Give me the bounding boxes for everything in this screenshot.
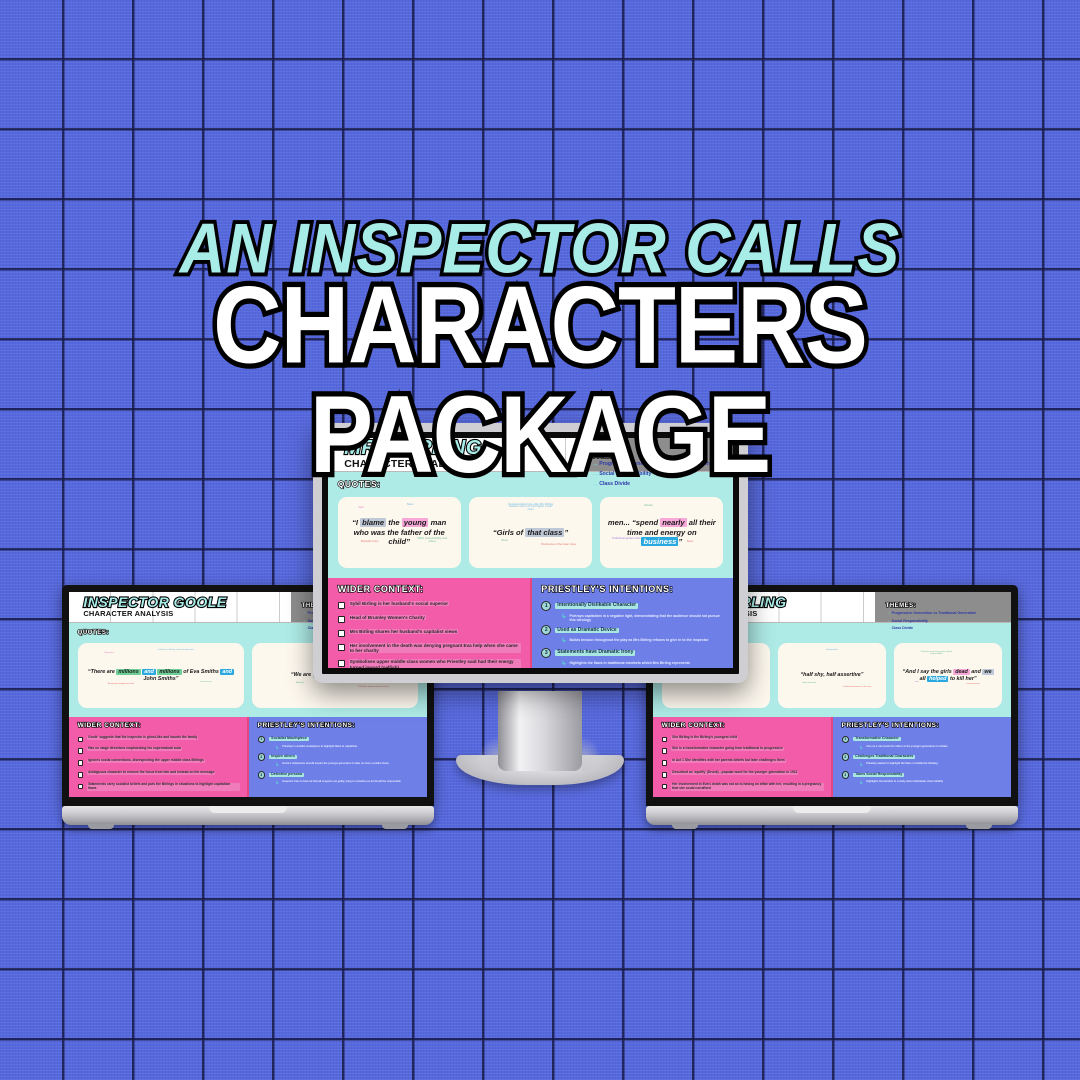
context-text: She is a transformative character going … [671,747,784,751]
intention-item: 3Takes Social Responsibility↳Highlights … [842,771,1004,786]
context-item[interactable]: Goole' suggests that the inspector is gh… [78,736,240,743]
elbow-arrow-icon: ↳ [859,763,863,768]
annotation-note: Noun [484,540,526,543]
theme-label: Social Responsibility [892,620,928,624]
intention-title: Socialist Mouthpiece [269,737,309,741]
quote-card[interactable]: RepetitionCollective suffering of the wo… [78,643,245,709]
elbow-arrow-icon: ↳ [561,614,566,620]
intention-header: 3Statements have Dramatic Irony [541,648,725,658]
intention-title: Detective persona [269,773,304,777]
elbow-arrow-icon: ↳ [859,746,863,751]
quote-fragment: ” [678,537,682,546]
context-text: Symbolises upper middle class women who … [349,659,522,668]
highlighted-phrase: millions [157,669,181,675]
checkbox-icon[interactable] [338,602,345,609]
bottom-band: WIDER CONTEXT:She Birling is the Birling… [653,717,1011,797]
intention-header: 2Inspire others [258,753,420,761]
intention-header: 1Intentionally Dislikable Character [541,601,725,611]
quote-fragment: “There are [88,669,116,675]
intention-description: Builds tension throughout the play as Mr… [569,638,708,642]
highlighted-phrase: helped [927,676,948,682]
context-item[interactable]: Sybil Birling is her husband's social su… [338,601,522,609]
quote-card-list: VerbNounShifts responsibility onto other… [338,497,724,569]
intention-item: 3Statements have Dramatic Irony↳Highligh… [541,648,725,667]
annotation-note: Condescending tone, title, Mrs Birling b… [506,504,555,512]
headline-block: AN INSPECTOR CALLS CHARACTERS PACKAGE [0,218,1080,473]
quote-fragment: John Smiths” [143,676,178,682]
intention-title: Statements have Dramatic Irony [555,650,635,656]
theme-item: →Social Responsibility [886,619,1004,624]
context-text: Head of Brumley Women's Charity [349,615,426,620]
highlighted-phrase: blame [360,518,386,527]
checkbox-icon[interactable] [662,748,668,754]
context-item[interactable]: She is a transformative character going … [662,747,824,754]
highlighted-phrase: young [402,518,429,527]
quote-fragment: all [920,676,928,682]
context-item[interactable]: In Act 1 She identifies with her parents… [662,759,824,766]
arrow-icon: → [302,619,305,624]
headline-line-2: CHARACTERS PACKAGE [0,270,1080,489]
intention-header: 3Takes Social Responsibility [842,771,1004,779]
intention-detail: ↳Priestley's socialist mouthpiece to hig… [275,746,419,751]
context-item[interactable]: She Birling is the Birling's youngest ch… [662,736,824,743]
quote-fragment: “spend [632,518,660,527]
context-text: Her involvement in the death was denying… [349,643,522,654]
intention-description: Portrays capitalism in a negative light,… [569,614,724,622]
intentions-label: PRIESTLEY'S INTENTIONS: [541,585,725,594]
themes-label: THEMES: [886,603,1004,609]
checkbox-icon[interactable] [338,660,345,667]
context-item[interactable]: Statements carry socialist beliefs and p… [78,783,240,791]
intention-detail: ↳Highlights the benefits to society when… [859,781,1003,786]
checkbox-icon[interactable] [662,737,668,743]
quote-fragment: “Girls of [493,528,526,537]
laptop-foot-left [672,824,698,829]
quote-fragment: Eva Smiths [190,669,219,675]
laptop-foot-left [88,824,114,829]
highlighted-phrase: dead [953,669,970,675]
wider-context-label: WIDER CONTEXT: [338,585,522,594]
context-text: In Act 1 She identifies with her parents… [671,759,786,763]
highlighted-phrase: business [641,537,678,546]
quote-fragment: the [386,518,402,527]
quote-card[interactable]: Condescending tone, title, Mrs Birling b… [469,497,592,569]
context-item[interactable]: Ignores social conventions, disrespectin… [78,759,240,766]
arrow-icon: → [886,619,889,624]
intention-detail: ↳Inspector tries to find out that all su… [275,781,419,786]
laptop-foot-right [966,824,992,829]
intentions-panel: PRIESTLEY'S INTENTIONS:1Transformative C… [831,717,1011,797]
intention-description: Inspector tries to find out that all sus… [282,781,401,784]
quote-fragment: of [182,669,190,675]
checkbox-icon[interactable] [338,630,345,637]
intention-header: 2Challenges Traditional Characters [842,753,1004,761]
intention-header: 3Detective persona [258,771,420,779]
elbow-arrow-icon: ↳ [275,763,279,768]
highlighted-phrase: and [220,669,234,675]
checkbox-icon[interactable] [662,772,668,778]
context-item[interactable]: Described as 'squiffy' (Drunk) - popular… [662,771,824,778]
checkbox-icon[interactable] [78,784,84,790]
annotation-note: Conflicted character at the start [841,686,874,688]
context-text: Statements carry socialist beliefs and p… [87,783,240,791]
intention-number: 3 [258,771,266,779]
context-item[interactable]: Symbolises upper middle class women who … [338,659,522,668]
intention-number: 2 [541,625,551,635]
quote-text: “And I say the girls dead and we all hel… [894,669,1003,683]
elbow-arrow-icon: ↳ [275,781,279,786]
quote-fragment: men... [608,518,632,527]
theme-label: Progressive Generation vs Traditional Ge… [892,612,977,616]
quote-fragment: “We are [291,672,313,678]
quote-card[interactable]: Collective pronoun accepts shared respon… [894,643,1003,709]
bottom-band: WIDER CONTEXT:Sybil Birling is her husba… [328,578,733,668]
highlighted-phrase: and [142,669,156,675]
context-item[interactable]: Her involvement in Eva's death was not a… [662,783,824,791]
elbow-arrow-icon: ↳ [275,746,279,751]
quote-text: “half shy, half assertive” [794,672,870,679]
annotation-note: Dismissive of the lower class [540,544,577,547]
intention-title: Transformative Character [853,737,901,741]
elbow-arrow-icon: ↳ [859,781,863,786]
arrow-icon: → [886,611,889,616]
checkbox-icon[interactable] [662,760,668,766]
intention-number: 2 [258,753,266,761]
quote-text: “There are millions and millions of Eva … [78,669,245,683]
quote-fragment: ” [564,528,568,537]
title-box: INSPECTOR GOOLECHARACTER ANALYSIS [69,592,291,622]
context-item[interactable]: Head of Brumley Women's Charity [338,615,522,623]
intention-header: 1Socialist Mouthpiece [258,736,420,744]
context-text: Her involvement in Eva's death was not a… [671,783,824,791]
context-text: Ignores social conventions, disrespectin… [87,759,205,763]
checkbox-icon[interactable] [662,784,668,790]
laptop-right-base [646,806,1018,825]
wider-context-label: WIDER CONTEXT: [78,723,240,729]
quote-fragment: “And I say the girls [903,669,954,675]
intention-item: 3Detective persona↳Inspector tries to fi… [258,771,420,786]
laptop-left-base [62,806,434,825]
quote-card[interactable]: AdverbNounTraditional gender rolesmen...… [600,497,723,569]
highlighted-phrase: nearly [660,518,686,527]
context-text: Has no stage directions emphasising his … [87,747,182,751]
highlighted-phrase: that class [525,528,564,537]
intention-title: Challenges Traditional Characters [853,755,915,759]
intention-item: 1Transformative Character↳Acts as a role… [842,736,1004,751]
intention-header: 2Used as Dramatic Device [541,625,725,635]
intention-description: Highlights the benefits to society when … [866,781,943,784]
checkbox-icon[interactable] [78,760,84,766]
annotation-note: Stage direction [791,682,828,684]
wider-context-panel: WIDER CONTEXT:Sybil Birling is her husba… [328,578,530,668]
quote-text: “I blame the young man who was the fathe… [338,518,461,546]
context-item[interactable]: Has no stage directions emphasising his … [78,747,240,754]
themes-panel: THEMES:→Progressive Generation vs Tradit… [875,592,1011,622]
laptop-foot-right [382,824,408,829]
elbow-arrow-icon: ↳ [561,661,566,667]
annotation-note: Adverb [627,505,669,508]
intention-number: 1 [258,736,266,744]
checkbox-icon[interactable] [338,616,345,623]
quote-text: “Girls of that class” [485,528,575,537]
intention-detail: ↳Acts as a role model for others in the … [859,746,1003,751]
intention-description: Goole's statements should inspire the yo… [282,763,389,766]
intention-item: 2Challenges Traditional Characters↳Pries… [842,753,1004,768]
character-name: INSPECTOR GOOLE [83,596,291,609]
quote-fragment: “half shy, half assertive” [800,672,863,678]
arrow-icon: → [302,611,305,616]
bottom-band: WIDER CONTEXT:Goole' suggests that the i… [69,717,427,797]
monitor-stand-neck [498,691,582,771]
annotation-note: Plural pronoun [955,683,992,685]
highlighted-phrase: millions [116,669,140,675]
intention-header: 1Transformative Character [842,736,1004,744]
intentions-panel: PRIESTLEY'S INTENTIONS:1Socialist Mouthp… [247,717,427,797]
elbow-arrow-icon: ↳ [561,638,566,644]
intention-title: Takes Social Responsibility [853,773,904,777]
intentions-panel: PRIESTLEY'S INTENTIONS:1Intentionally Di… [530,578,734,668]
annotation-note: Anonymity emphasises scale [94,683,147,685]
quote-fragment: to kill her” [948,676,976,682]
highlighted-phrase: we [982,669,993,675]
intention-number: 3 [842,771,850,779]
intention-detail: ↳Priestley wanted to highlight the flaws… [859,763,1003,768]
intention-detail: ↳Goole's statements should inspire the y… [275,763,419,768]
intention-detail: ↳Builds tension throughout the play as M… [561,638,724,644]
intentions-label: PRIESTLEY'S INTENTIONS: [258,723,420,729]
intention-description: Priestley wanted to highlight the flaws … [866,763,938,766]
intention-item: 1Intentionally Dislikable Character↳Port… [541,601,725,622]
annotation-note: Noun [392,504,429,507]
intention-number: 1 [842,736,850,744]
context-text: Sybil Birling is her husband's social su… [349,601,449,606]
quote-text: men... “spend nearly all their time and … [600,518,723,546]
intention-description: Priestley's socialist mouthpiece to high… [282,746,357,749]
context-item[interactable]: Mrs Birling shares her husband's capital… [338,629,522,637]
checkbox-icon[interactable] [78,748,84,754]
annotation-note: Repetition [88,652,131,654]
annotation-note: Collective pronoun accepts shared respon… [918,651,955,655]
intention-number: 3 [541,648,551,658]
quote-card[interactable]: VerbNounShifts responsibility onto other… [338,497,461,569]
checkbox-icon[interactable] [78,772,84,778]
annotation-note: Juxtaposition [810,649,853,651]
intention-title: Used as Dramatic Device [555,628,618,634]
intention-item: 2Inspire others↳Goole's statements shoul… [258,753,420,768]
context-text: Described as 'squiffy' (Drunk) - popular… [671,771,798,775]
context-text: Goole' suggests that the inspector is gh… [87,736,198,740]
quote-card[interactable]: JuxtapositionStage directionConflicted c… [778,643,887,709]
intention-detail: ↳Highlights the flaws in traditional min… [561,661,724,667]
context-text: Mrs Birling shares her husband's capital… [349,629,459,634]
intention-item: 2Used as Dramatic Device↳Builds tension … [541,625,725,644]
wider-context-panel: WIDER CONTEXT:She Birling is the Birling… [653,717,831,797]
theme-item: →Progressive Generation vs Traditional G… [886,611,1004,616]
annotation-note: Verb [345,507,377,510]
context-item[interactable]: Her involvement in the death was denying… [338,643,522,654]
intention-number: 1 [541,601,551,611]
intentions-label: PRIESTLEY'S INTENTIONS: [842,723,1004,729]
checkbox-icon[interactable] [338,644,345,651]
intention-number: 2 [842,753,850,761]
intention-item: 1Socialist Mouthpiece↳Priestley's social… [258,736,420,751]
wider-context-panel: WIDER CONTEXT:Goole' suggests that the i… [69,717,247,797]
wider-context-label: WIDER CONTEXT: [662,723,824,729]
annotation-note: Collective suffering of the working clas… [151,649,201,651]
quote-fragment: and [970,669,983,675]
intention-title: Intentionally Dislikable Character [555,603,638,609]
intention-title: Inspire others [269,755,297,759]
quote-fragment: “I [352,518,360,527]
intention-description: Acts as a role model for others in the y… [866,746,947,749]
context-text: She Birling is the Birling's youngest ch… [671,736,738,740]
checkbox-icon[interactable] [78,737,84,743]
intention-detail: ↳Portrays capitalism in a negative light… [561,614,724,622]
intention-description: Highlights the flaws in traditional mind… [569,661,689,665]
annotation-note: Collective pronoun unites society [348,686,398,688]
context-item[interactable]: Ambiguous character to remove the focus … [78,771,240,778]
slide-subtitle: CHARACTER ANALYSIS [83,610,291,618]
context-text: Ambiguous character to remove the focus … [87,771,215,775]
